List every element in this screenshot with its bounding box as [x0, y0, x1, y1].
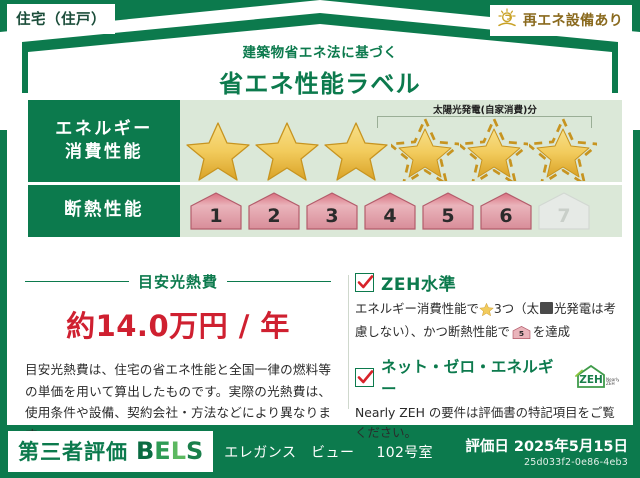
check-icon: [355, 368, 374, 387]
title-subtitle: 建築物省エネ法に基づく: [0, 41, 640, 61]
star-solid: [253, 117, 321, 181]
energy-cost-heading-text: 目安光熱費: [138, 271, 218, 292]
svg-text:5: 5: [519, 329, 524, 338]
zeh-text-part1: エネルギー消費性能で: [355, 301, 479, 316]
star-solid: [184, 117, 252, 181]
insulation-level-number: 7: [557, 205, 570, 232]
label-body: エネルギー 消費性能 太陽光発電(自家消費)分: [7, 93, 633, 425]
room-number: 102号室: [377, 442, 433, 462]
svg-text:ZEH: ZEH: [579, 374, 603, 386]
insulation-level-group: 1 2 3: [188, 190, 592, 232]
insulation-level-badge: 1: [188, 190, 244, 232]
insulation-performance-row: 断熱性能 1: [28, 185, 622, 237]
inline-star-icon: [479, 302, 494, 322]
insulation-level-badge: 5: [420, 190, 476, 232]
insulation-level-badge-inactive: 7: [536, 190, 592, 232]
energy-cost-column: 目安光熱費 約14.0万円 / 年 目安光熱費は、住宅の省エネ性能と全国一律の燃…: [7, 261, 347, 425]
inline-level-badge-icon: 5: [512, 325, 531, 346]
energy-label-line2: 消費性能: [65, 141, 143, 164]
energy-performance-row: エネルギー 消費性能 太陽光発電(自家消費)分: [28, 100, 622, 182]
zeh-standard-text: エネルギー消費性能で3つ（太光発電は考慮しない）、かつ断熱性能で5を達成: [355, 299, 619, 346]
bels-letter-e: E: [154, 437, 170, 465]
insulation-label: 断熱性能: [64, 199, 144, 223]
title-main: 省エネ性能ラベル: [0, 64, 640, 99]
zeh-text-part4: を達成: [533, 324, 570, 339]
energy-performance-label: 住宅（住戸） 再エネ設備あり 建築物省エネ法に基づく 省エネ性能ラベル: [0, 0, 640, 478]
lower-section: 目安光熱費 約14.0万円 / 年 目安光熱費は、住宅の省エネ性能と全国一律の燃…: [7, 261, 633, 425]
svg-text:ZEH: ZEH: [606, 381, 615, 386]
zeh-standard-block: ZEH水準 エネルギー消費性能で3つ（太光発電は考慮しない）、かつ断熱性能で5を…: [355, 270, 619, 346]
insulation-level-badge: 4: [362, 190, 418, 232]
zeh-standard-title: ZEH水準: [381, 270, 456, 295]
insulation-level-badge-achieved: 6: [478, 190, 534, 232]
insulation-performance-label-box: 断熱性能: [28, 185, 180, 237]
energy-cost-heading: 目安光熱費: [25, 271, 331, 292]
insulation-level-badge: 2: [246, 190, 302, 232]
insulation-level-number: 2: [267, 205, 280, 232]
solar-bracket-label: 太陽光発電(自家消費)分: [374, 102, 596, 116]
heading-rule-left: [25, 281, 129, 283]
zeh-logo-icon: ZEH Nearly ZEH: [575, 364, 619, 390]
building-name: エレガンス ビュー: [224, 442, 354, 462]
zeh-column: ZEH水準 エネルギー消費性能で3つ（太光発電は考慮しない）、かつ断熱性能で5を…: [347, 261, 633, 425]
check-icon: [355, 273, 374, 292]
bels-en-label: BELS: [136, 437, 203, 465]
energy-label-line1: エネルギー: [55, 118, 153, 141]
bels-letter-l: L: [171, 437, 186, 465]
heading-rule-right: [227, 281, 331, 283]
redacted-block: [540, 302, 553, 314]
insulation-levels-area: 1 2 3: [180, 185, 622, 237]
solar-bracket: [377, 116, 592, 128]
insulation-level-number: 4: [383, 205, 396, 232]
evaluation-id: 25d033f2-0e86-4eb3: [465, 457, 628, 468]
category-tab: 住宅（住戸）: [7, 4, 115, 34]
renewable-badge-label: 再エネ設備あり: [523, 10, 623, 30]
evaluation-date: 評価日 2025年5月15日: [465, 435, 628, 456]
insulation-level-number: 3: [325, 205, 338, 232]
energy-cost-value: 約14.0万円 / 年: [25, 303, 331, 345]
renewable-energy-badge: 再エネ設備あり: [490, 5, 632, 36]
insulation-level-number: 1: [209, 205, 222, 232]
evaluation-info: 評価日 2025年5月15日 25d033f2-0e86-4eb3: [465, 435, 628, 468]
footer-bar: 第三者評価 BELS エレガンス ビュー 102号室 評価日 2025年5月15…: [0, 425, 640, 478]
title-block: 建築物省エネ法に基づく 省エネ性能ラベル: [0, 41, 640, 99]
insulation-level-number: 6: [499, 205, 512, 232]
bels-logo: 第三者評価 BELS: [8, 431, 213, 472]
bels-letter-b: B: [136, 437, 154, 465]
bels-letter-s: S: [186, 437, 203, 465]
bels-jp-label: 第三者評価: [18, 436, 128, 466]
solar-sun-icon: [496, 8, 518, 32]
energy-stars-area: 太陽光発電(自家消費)分: [180, 100, 622, 182]
insulation-level-badge: 3: [304, 190, 360, 232]
zeh-text-part2: 3つ（太: [494, 301, 539, 316]
insulation-level-number: 5: [441, 205, 454, 232]
rating-rows: エネルギー 消費性能 太陽光発電(自家消費)分: [28, 100, 622, 237]
net-zero-energy-title: ネット・ゼロ・エネルギー: [381, 355, 564, 399]
zeh-standard-heading: ZEH水準: [355, 270, 619, 295]
net-zero-energy-heading: ネット・ゼロ・エネルギー ZEH Nearly ZEH: [355, 355, 619, 399]
energy-performance-label-box: エネルギー 消費性能: [28, 100, 180, 182]
